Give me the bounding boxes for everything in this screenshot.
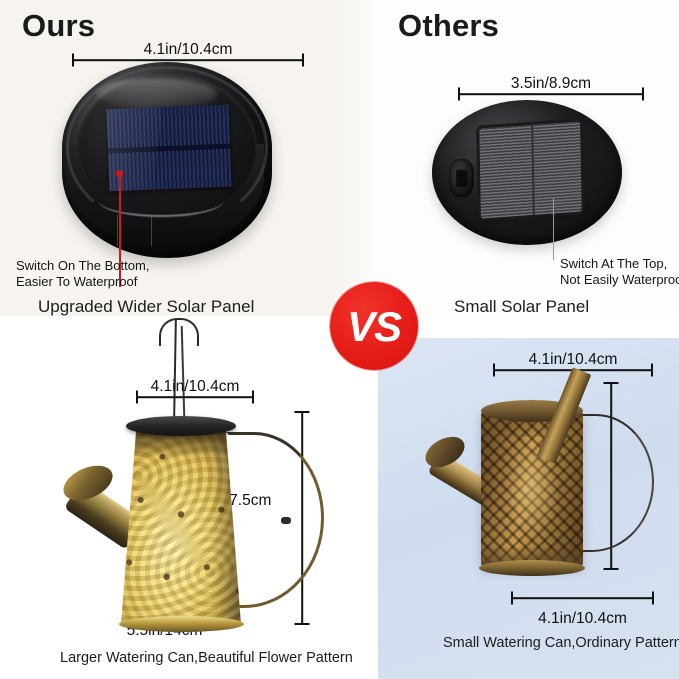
can-base (119, 616, 244, 632)
dimension-label: 4.1in/10.4cm (144, 41, 233, 59)
solar-cap-highlight (96, 78, 218, 109)
ours-solar-cap-image (62, 62, 272, 258)
ours-switch-note-line2: Easier To Waterproof (16, 274, 137, 290)
dimension-cap-right (252, 391, 254, 404)
dimension-cap-bottom (295, 623, 310, 625)
dimension-cap-left (493, 364, 495, 377)
dimension-cap-top (604, 382, 619, 384)
heading-ours: Ours (22, 8, 95, 44)
can-base (479, 560, 585, 576)
dimension-bar (511, 597, 654, 599)
dimension-cap-top (295, 411, 310, 413)
others-solar-width-dimension: 3.5in/8.9cm (458, 86, 644, 102)
dimension-label: 4.1in/10.4cm (529, 351, 618, 369)
ours-switch-note-line1: Switch On The Bottom, (16, 258, 149, 274)
others-switch-note-line2: Not Easily Waterproof (560, 272, 679, 288)
solar-panel-cells (479, 121, 581, 218)
dimension-cap-right (642, 88, 644, 101)
ours-can-top-dimension: 4.1in/10.4cm (136, 389, 254, 405)
dimension-cap-bottom (604, 568, 619, 570)
dimension-bar (458, 93, 644, 95)
can-solar-lid (126, 416, 236, 436)
vs-badge-label: VS (347, 306, 401, 348)
dimension-cap-right (302, 54, 304, 67)
caption-others-solar: Small Solar Panel (454, 297, 589, 317)
solar-cap-seam-lines (117, 215, 153, 246)
solar-panel-cells (107, 105, 232, 192)
can-hanging-hook (159, 318, 199, 346)
comparison-infographic: 4.1in/10.4cm Switch On The Bottom, Easie… (0, 0, 679, 679)
can-handle (576, 414, 654, 552)
switch-leader-line (553, 198, 554, 260)
dimension-label: 4.1in/10.4cm (151, 378, 240, 396)
ours-watering-can-image (56, 320, 306, 640)
panel-others-watering-can: 4.1in/10.4cm 6.1in/15.5cm 4.1in/10.4cm S… (378, 338, 679, 679)
dimension-bar (72, 59, 304, 61)
solar-panel-shine (107, 105, 164, 192)
solar-cell-stripes (479, 121, 581, 218)
caption-ours-can: Larger Watering Can,Beautiful Flower Pat… (60, 650, 353, 666)
dimension-cap-left (72, 54, 74, 67)
panel-ours-solar: 4.1in/10.4cm Switch On The Bottom, Easie… (0, 0, 372, 316)
heading-others: Others (398, 8, 499, 44)
panel-ours-watering-can: 4.1in/10.4cm 6.9in/17.5cm 5.5in/14cm (0, 316, 378, 679)
dimension-cap-left (458, 88, 460, 101)
panel-others-solar: 3.5in/8.9cm Switch At The Top, Not Easil… (372, 0, 679, 316)
dimension-cap-left (511, 592, 513, 605)
dimension-cap-right (652, 592, 654, 605)
ours-solar-width-dimension: 4.1in/10.4cm (72, 52, 304, 68)
others-solar-cap-image (432, 100, 622, 245)
others-switch-note-line1: Switch At The Top, (560, 256, 667, 272)
dimension-cap-left (136, 391, 138, 404)
panel-edge-fade (330, 0, 372, 316)
dimension-label: 4.1in/10.4cm (538, 610, 627, 628)
others-can-bottom-dimension: 4.1in/10.4cm (511, 591, 654, 605)
dimension-cap-right (651, 364, 653, 377)
caption-ours-solar: Upgraded Wider Solar Panel (38, 297, 254, 317)
top-switch-button (449, 159, 474, 197)
vs-badge: VS (330, 282, 418, 370)
can-body-flower-pattern (121, 424, 241, 624)
dimension-bar (136, 396, 254, 398)
dimension-label: 3.5in/8.9cm (511, 75, 591, 93)
caption-others-can: Small Watering Can,Ordinary Pattern (443, 635, 679, 651)
solar-cap-arc-highlight (98, 184, 224, 217)
others-watering-can-image (422, 400, 642, 600)
